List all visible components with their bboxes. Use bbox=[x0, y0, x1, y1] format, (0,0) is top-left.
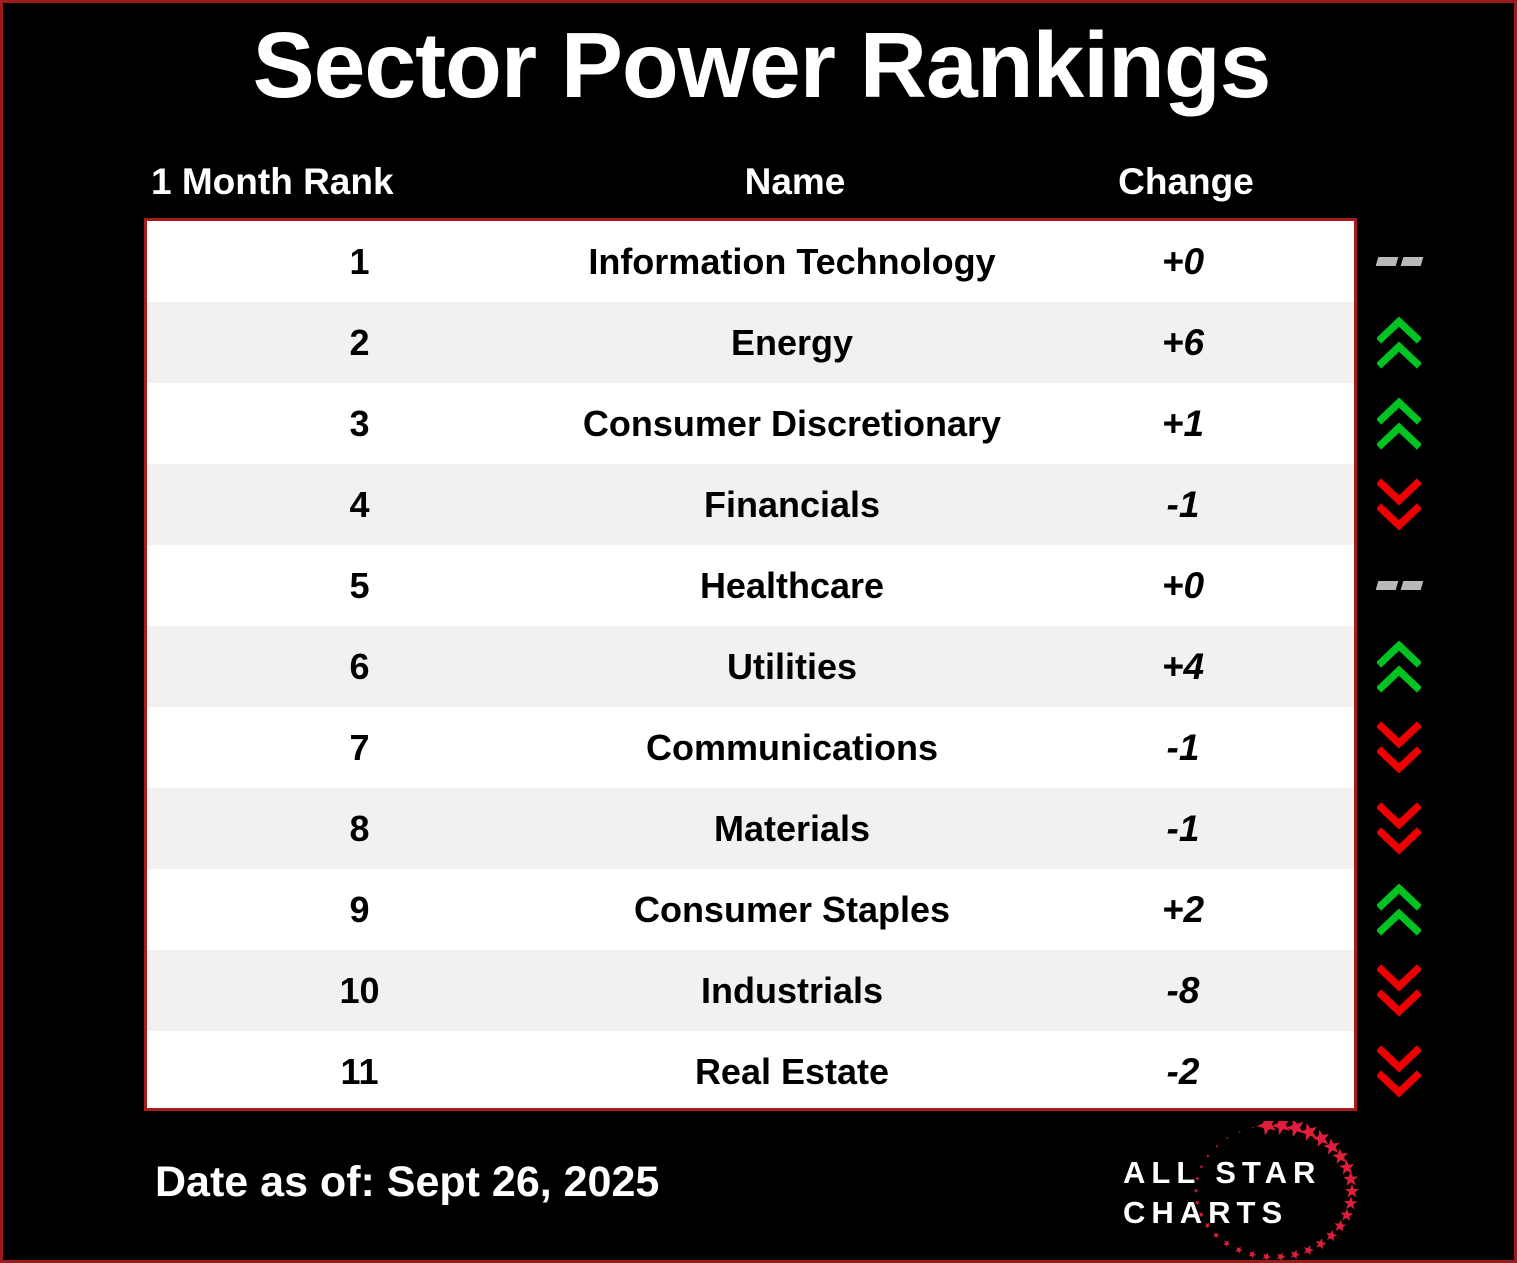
rankings-table: 1Information Technology+02Energy+63Consu… bbox=[144, 218, 1357, 1111]
page-title: Sector Power Rankings bbox=[3, 15, 1517, 115]
table-row: 1Information Technology+0 bbox=[147, 221, 1354, 302]
indicator-row bbox=[1360, 950, 1450, 1031]
dash-icon bbox=[1400, 257, 1423, 266]
no-change-dashes-icon bbox=[1377, 581, 1422, 590]
cell-rank: 8 bbox=[147, 788, 572, 869]
indicator-none bbox=[1368, 221, 1430, 302]
table-row: 11Real Estate-2 bbox=[147, 1031, 1354, 1111]
cell-name: Consumer Staples bbox=[572, 869, 1012, 950]
column-header-change: Change bbox=[1015, 153, 1357, 211]
cell-rank: 4 bbox=[147, 464, 572, 545]
chevron-down-icon bbox=[1377, 503, 1421, 531]
cell-change: +0 bbox=[1012, 545, 1354, 626]
all-star-charts-logo: ALL STAR CHARTS bbox=[1099, 1121, 1399, 1261]
cell-rank: 10 bbox=[147, 950, 572, 1031]
chevron-down-icon bbox=[1377, 1045, 1421, 1073]
chevron-down-icon bbox=[1377, 964, 1421, 992]
cell-rank: 1 bbox=[147, 221, 572, 302]
cell-name: Consumer Discretionary bbox=[572, 383, 1012, 464]
cell-change: -1 bbox=[1012, 788, 1354, 869]
table-row: 6Utilities+4 bbox=[147, 626, 1354, 707]
cell-name: Healthcare bbox=[572, 545, 1012, 626]
sector-power-rankings-poster: Sector Power Rankings 1 Month Rank Name … bbox=[0, 0, 1517, 1263]
column-header-rank: 1 Month Rank bbox=[145, 153, 575, 211]
indicator-down bbox=[1368, 950, 1430, 1031]
chevron-down-icon bbox=[1377, 989, 1421, 1017]
cell-rank: 3 bbox=[147, 383, 572, 464]
chevron-down-icon bbox=[1377, 827, 1421, 855]
indicator-down bbox=[1368, 1031, 1430, 1112]
cell-name: Real Estate bbox=[572, 1031, 1012, 1111]
indicator-row bbox=[1360, 302, 1450, 383]
cell-change: +6 bbox=[1012, 302, 1354, 383]
indicator-row bbox=[1360, 869, 1450, 950]
dash-icon bbox=[1400, 581, 1423, 590]
indicator-none bbox=[1368, 545, 1430, 626]
cell-name: Energy bbox=[572, 302, 1012, 383]
table-row: 9Consumer Staples+2 bbox=[147, 869, 1354, 950]
chevron-down-icon bbox=[1377, 746, 1421, 774]
column-header-name: Name bbox=[575, 153, 1015, 211]
cell-rank: 9 bbox=[147, 869, 572, 950]
cell-change: +4 bbox=[1012, 626, 1354, 707]
cell-change: +2 bbox=[1012, 869, 1354, 950]
indicator-up bbox=[1368, 626, 1430, 707]
chevron-up-icon bbox=[1377, 397, 1421, 425]
cell-name: Financials bbox=[572, 464, 1012, 545]
indicator-down bbox=[1368, 464, 1430, 545]
chevron-up-icon bbox=[1377, 665, 1421, 693]
indicator-down bbox=[1368, 788, 1430, 869]
chevron-down-icon bbox=[1377, 721, 1421, 749]
indicator-row bbox=[1360, 383, 1450, 464]
indicator-row bbox=[1360, 545, 1450, 626]
cell-name: Industrials bbox=[572, 950, 1012, 1031]
table-row: 2Energy+6 bbox=[147, 302, 1354, 383]
logo-line-1: ALL STAR bbox=[1123, 1155, 1321, 1191]
cell-name: Utilities bbox=[572, 626, 1012, 707]
star-ring-icon bbox=[1099, 1121, 1399, 1261]
indicator-row bbox=[1360, 626, 1450, 707]
indicator-row bbox=[1360, 788, 1450, 869]
indicator-row bbox=[1360, 1031, 1450, 1112]
chevron-down-icon bbox=[1377, 478, 1421, 506]
cell-change: +0 bbox=[1012, 221, 1354, 302]
change-indicator-gutter bbox=[1360, 221, 1450, 1108]
date-label: Date as of: Sept 26, 2025 bbox=[155, 1158, 659, 1207]
indicator-row bbox=[1360, 707, 1450, 788]
cell-name: Communications bbox=[572, 707, 1012, 788]
chevron-up-icon bbox=[1377, 640, 1421, 668]
no-change-dashes-icon bbox=[1377, 257, 1422, 266]
indicator-up bbox=[1368, 383, 1430, 464]
cell-change: -1 bbox=[1012, 464, 1354, 545]
cell-rank: 5 bbox=[147, 545, 572, 626]
cell-change: -1 bbox=[1012, 707, 1354, 788]
chevron-down-icon bbox=[1377, 1070, 1421, 1098]
chevron-up-icon bbox=[1377, 341, 1421, 369]
dash-icon bbox=[1375, 581, 1398, 590]
cell-change: -2 bbox=[1012, 1031, 1354, 1111]
table-row: 3Consumer Discretionary+1 bbox=[147, 383, 1354, 464]
indicator-row bbox=[1360, 221, 1450, 302]
chevron-up-icon bbox=[1377, 883, 1421, 911]
indicator-up bbox=[1368, 869, 1430, 950]
indicator-up bbox=[1368, 302, 1430, 383]
chevron-up-icon bbox=[1377, 422, 1421, 450]
table-row: 8Materials-1 bbox=[147, 788, 1354, 869]
cell-rank: 6 bbox=[147, 626, 572, 707]
chevron-up-icon bbox=[1377, 908, 1421, 936]
indicator-down bbox=[1368, 707, 1430, 788]
cell-name: Information Technology bbox=[572, 221, 1012, 302]
cell-name: Materials bbox=[572, 788, 1012, 869]
logo-line-2: CHARTS bbox=[1123, 1195, 1288, 1231]
indicator-row bbox=[1360, 464, 1450, 545]
dash-icon bbox=[1375, 257, 1398, 266]
cell-rank: 7 bbox=[147, 707, 572, 788]
cell-rank: 11 bbox=[147, 1031, 572, 1111]
chevron-down-icon bbox=[1377, 802, 1421, 830]
table-row: 5Healthcare+0 bbox=[147, 545, 1354, 626]
cell-rank: 2 bbox=[147, 302, 572, 383]
table-row: 10Industrials-8 bbox=[147, 950, 1354, 1031]
table-row: 7Communications-1 bbox=[147, 707, 1354, 788]
chevron-up-icon bbox=[1377, 316, 1421, 344]
cell-change: -8 bbox=[1012, 950, 1354, 1031]
column-headers: 1 Month Rank Name Change bbox=[145, 153, 1357, 211]
table-row: 4Financials-1 bbox=[147, 464, 1354, 545]
cell-change: +1 bbox=[1012, 383, 1354, 464]
